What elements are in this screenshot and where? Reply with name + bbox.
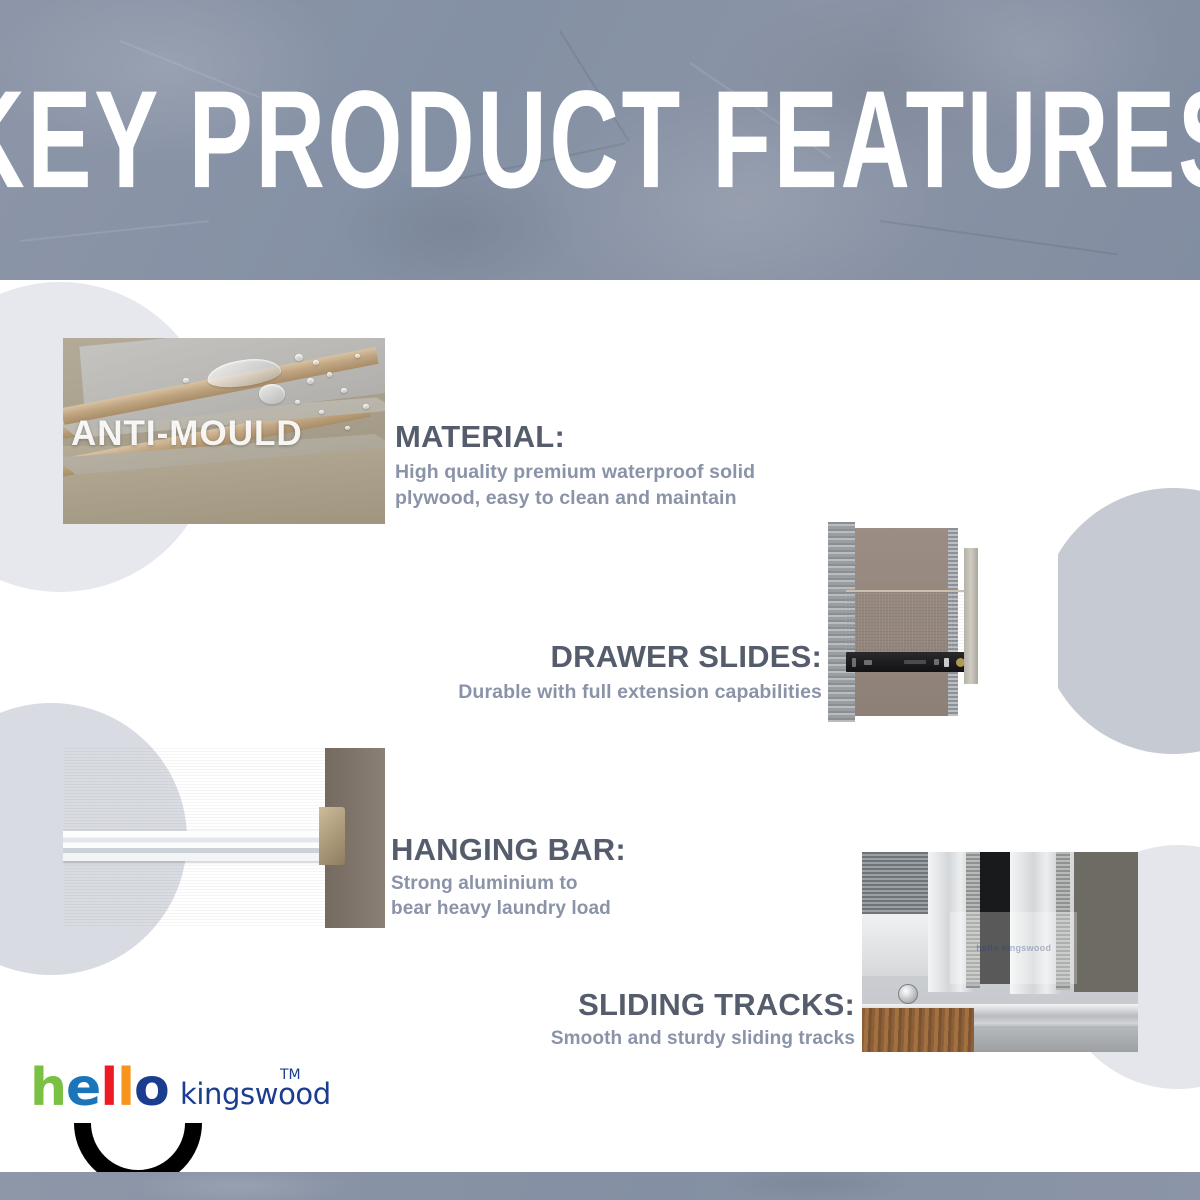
logo-brand-name: kingswood	[180, 1077, 331, 1111]
logo-wordmark: hello	[30, 1065, 169, 1111]
page-title: KEY PRODUCT FEATURES	[84, 0, 1116, 280]
image-watermark: hello kingswood	[950, 912, 1077, 984]
feature-image-hanging-bar	[63, 748, 385, 928]
drawer-box	[846, 590, 966, 652]
feature-text-hanging-bar: HANGING BAR: Strong aluminium to bear he…	[391, 833, 811, 922]
feature-text-drawer-slides: DRAWER SLIDES: Durable with full extensi…	[330, 640, 822, 706]
page-header: KEY PRODUCT FEATURES	[0, 0, 1200, 280]
feature-body-material-line1: High quality premium waterproof solid	[395, 460, 835, 485]
feature-image-drawer-slides	[828, 522, 1072, 722]
water-droplet	[341, 388, 347, 393]
brand-logo: hello kingswood TM	[30, 1065, 330, 1175]
water-droplet	[259, 384, 285, 404]
feature-body-hanging-bar-line2: bear heavy laundry load	[391, 897, 811, 922]
water-droplet	[327, 372, 332, 377]
water-droplet	[295, 354, 303, 361]
feature-body-sliding-tracks: Smooth and sturdy sliding tracks	[370, 1027, 855, 1052]
water-droplet	[313, 360, 319, 365]
feature-body-hanging-bar-line1: Strong aluminium to	[391, 872, 811, 897]
feature-image-sliding-tracks: hello kingswood	[862, 852, 1138, 1052]
water-droplet	[345, 426, 350, 430]
feature-heading-sliding-tracks: SLIDING TRACKS:	[370, 988, 855, 1021]
logo-letter-h: h	[30, 1065, 66, 1111]
roller-wheel	[898, 984, 918, 1004]
feature-heading-material: MATERIAL:	[395, 420, 835, 453]
water-droplet	[295, 400, 300, 404]
water-droplet	[319, 410, 324, 414]
wooden-skirting	[862, 1008, 974, 1052]
drawer-slide-rail	[846, 652, 968, 672]
cabinet-interior-shadow	[1074, 852, 1138, 992]
feature-image-material: ANTI-MOULD	[63, 338, 385, 524]
feature-text-material: MATERIAL: High quality premium waterproo…	[395, 420, 835, 511]
aluminium-hanging-rod	[63, 831, 331, 861]
feature-body-material-line2: plywood, easy to clean and maintain	[395, 486, 835, 511]
logo-letter-l2: l	[117, 1065, 134, 1111]
image-overlay-label-anti-mould: ANTI-MOULD	[71, 416, 303, 451]
drawer-front-panel	[964, 548, 978, 684]
water-droplet	[307, 378, 314, 384]
rod-bracket	[319, 807, 345, 865]
feature-heading-drawer-slides: DRAWER SLIDES:	[330, 640, 822, 673]
floor-surface	[974, 1026, 1138, 1052]
feature-heading-hanging-bar: HANGING BAR:	[391, 833, 811, 866]
logo-letter-l1: l	[100, 1065, 117, 1111]
water-droplet	[183, 378, 189, 383]
water-droplet	[363, 404, 369, 409]
feature-body-drawer-slides: Durable with full extension capabilities	[330, 680, 822, 705]
water-droplet	[355, 354, 360, 358]
logo-letter-o: o	[134, 1065, 169, 1111]
trademark-symbol: TM	[280, 1067, 301, 1083]
feature-text-sliding-tracks: SLIDING TRACKS: Smooth and sturdy slidin…	[370, 988, 855, 1052]
logo-letter-e: e	[66, 1065, 100, 1111]
image-white-space	[978, 534, 1058, 694]
page-footer-bar	[0, 1172, 1200, 1200]
